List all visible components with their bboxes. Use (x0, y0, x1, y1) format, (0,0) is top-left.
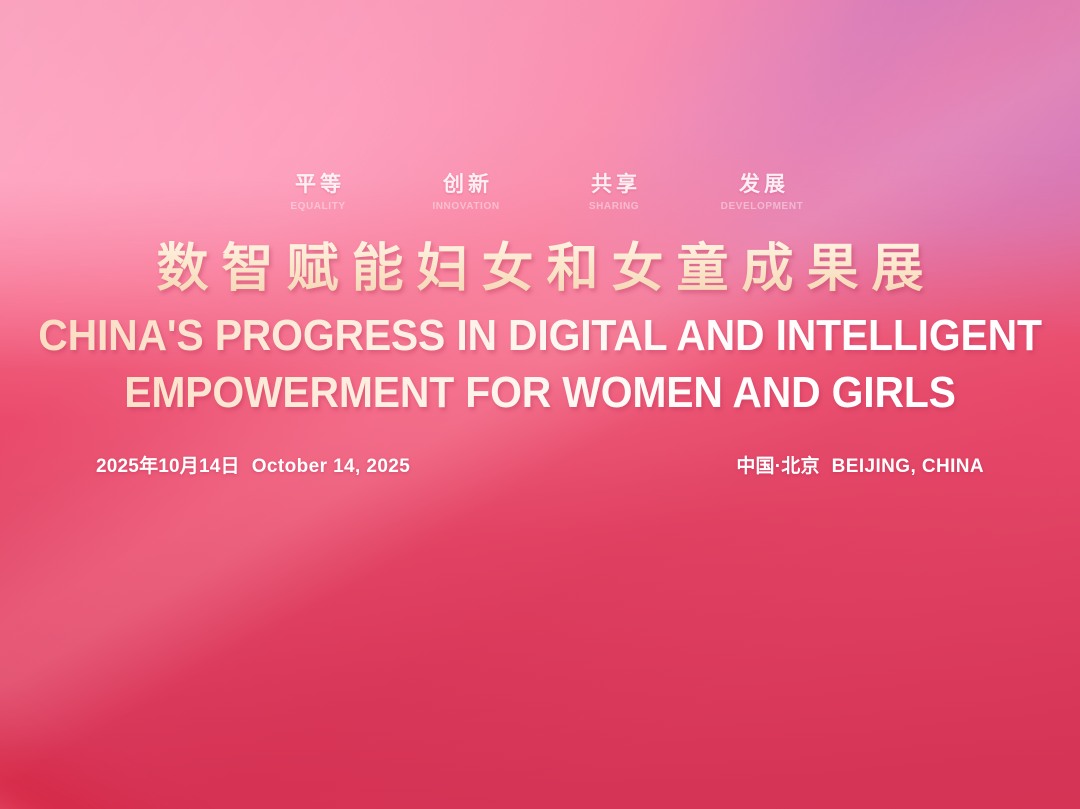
theme-keyword-sharing: 共享 SHARING (558, 172, 670, 212)
event-meta-row: 2025年10月14日 October 14, 2025 中国·北京 BEIJI… (96, 451, 984, 478)
event-date: 2025年10月14日 October 14, 2025 (96, 451, 410, 478)
theme-keyword-equality-en: EQUALITY (290, 201, 345, 212)
theme-keyword-equality-cn: 平等 (291, 172, 345, 199)
theme-keyword-sharing-cn: 共享 (587, 172, 641, 199)
theme-keyword-innovation: 创新 INNOVATION (410, 172, 522, 212)
event-date-cn: 2025年10月14日 (96, 451, 240, 478)
event-location-en: BEIJING, CHINA (832, 456, 984, 478)
event-location: 中国·北京 BEIJING, CHINA (736, 451, 984, 478)
title-english-line-2: EMPOWERMENT FOR WOMEN AND GIRLS (38, 367, 1042, 418)
theme-keyword-development-en: DEVELOPMENT (721, 201, 804, 212)
theme-keyword-equality: 平等 EQUALITY (262, 172, 374, 212)
title-chinese: 数智赋能妇女和女童成果展 (0, 240, 1080, 298)
poster-content: 平等 EQUALITY 创新 INNOVATION 共享 SHARING 发展 … (0, 0, 1080, 809)
theme-keyword-innovation-cn: 创新 (439, 172, 493, 199)
theme-keyword-innovation-en: INNOVATION (432, 201, 499, 212)
theme-keyword-sharing-en: SHARING (589, 201, 639, 212)
event-location-cn: 中国·北京 (736, 451, 819, 478)
theme-keywords-row: 平等 EQUALITY 创新 INNOVATION 共享 SHARING 发展 … (0, 172, 1080, 212)
event-poster: 平等 EQUALITY 创新 INNOVATION 共享 SHARING 发展 … (0, 0, 1080, 809)
title-english-line-1: CHINA'S PROGRESS IN DIGITAL AND INTELLIG… (38, 310, 1042, 361)
title-english: CHINA'S PROGRESS IN DIGITAL AND INTELLIG… (0, 310, 1080, 418)
event-date-en: October 14, 2025 (252, 456, 410, 478)
theme-keyword-development-cn: 发展 (735, 172, 789, 199)
theme-keyword-development: 发展 DEVELOPMENT (706, 172, 818, 212)
